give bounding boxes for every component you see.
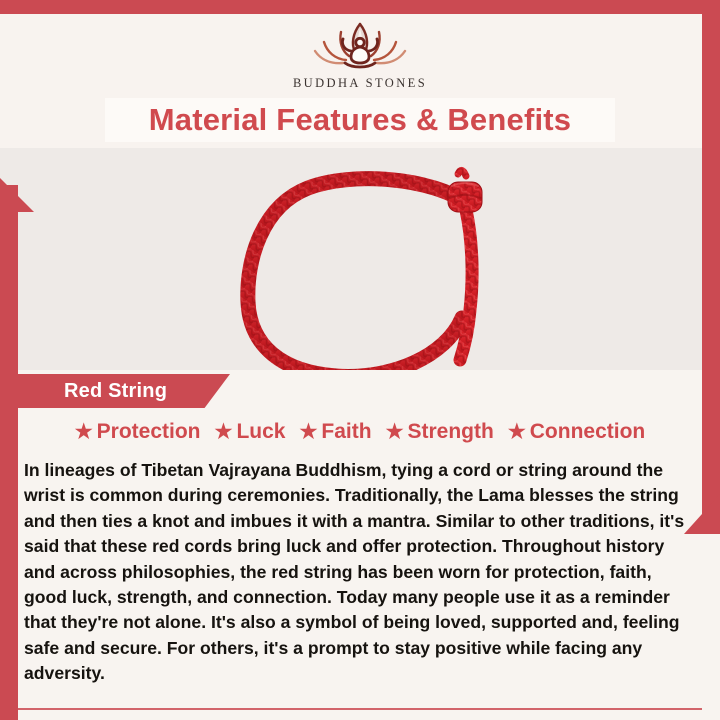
benefit-item-luck: ★ Luck	[215, 420, 286, 444]
product-image-red-string-bracelet	[0, 150, 720, 370]
page-title-band: Material Features & Benefits	[105, 98, 615, 142]
page-title: Material Features & Benefits	[149, 102, 572, 138]
benefit-label: Protection	[97, 420, 201, 444]
brand-name: BUDDHA STONES	[0, 76, 720, 91]
benefit-item-connection: ★ Connection	[508, 420, 645, 444]
benefit-label: Luck	[236, 420, 285, 444]
infographic-page: BUDDHA STONES Material Features & Benefi…	[0, 0, 720, 720]
star-icon: ★	[508, 422, 526, 442]
benefit-item-faith: ★ Faith	[299, 420, 371, 444]
star-icon: ★	[215, 422, 233, 442]
star-icon: ★	[386, 422, 404, 442]
product-name-label: Red String	[64, 380, 167, 403]
product-name-ribbon: Red String	[18, 374, 230, 408]
benefit-item-protection: ★ Protection	[75, 420, 201, 444]
brand-logo: BUDDHA STONES	[0, 18, 720, 91]
frame-bottom-line	[18, 708, 702, 710]
description-paragraph: In lineages of Tibetan Vajrayana Buddhis…	[24, 458, 696, 687]
star-icon: ★	[299, 422, 317, 442]
benefit-label: Connection	[530, 420, 646, 444]
benefits-list: ★ Protection ★ Luck ★ Faith ★ Strength ★…	[0, 420, 720, 444]
frame-top-bar	[0, 0, 720, 14]
star-icon: ★	[75, 422, 93, 442]
benefit-label: Strength	[408, 420, 494, 444]
lotus-meditation-icon	[301, 18, 419, 74]
adjustable-knot	[448, 170, 482, 212]
benefit-item-strength: ★ Strength	[386, 420, 494, 444]
benefit-label: Faith	[321, 420, 371, 444]
